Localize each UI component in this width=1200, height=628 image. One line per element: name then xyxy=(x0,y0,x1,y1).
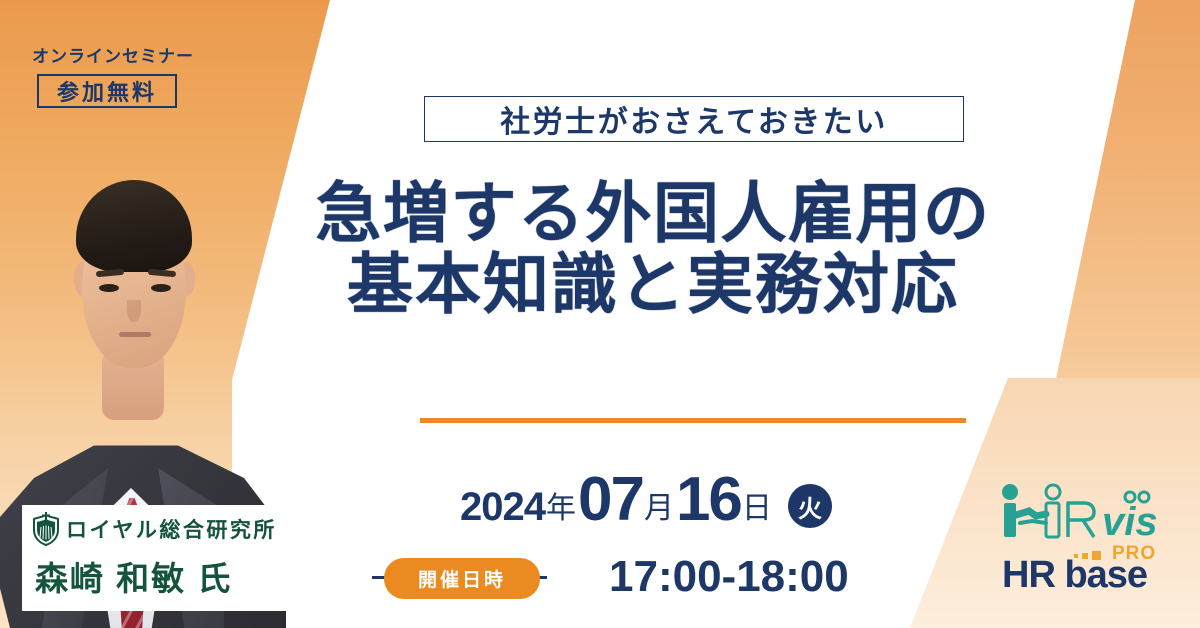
event-year: 2024 xyxy=(460,485,545,530)
schedule-label-pill: 開催日時 xyxy=(384,558,540,599)
hrvis-logo: vis xyxy=(996,483,1182,539)
event-time-row: 開催日時 17:00-18:00 xyxy=(372,550,932,604)
headline-block: 急増する外国人雇用の 基本知識と実務対応 xyxy=(268,178,1038,321)
event-date-row: 2024 年 07 月 16 日 火 xyxy=(460,468,940,530)
shield-crest-icon xyxy=(31,512,61,546)
event-month-unit: 月 xyxy=(644,483,674,527)
event-year-unit: 年 xyxy=(546,483,576,527)
event-day: 16 xyxy=(676,471,741,530)
online-seminar-label: オンラインセミナー xyxy=(32,42,194,67)
headline-line-2: 基本知識と実務対応 xyxy=(268,249,1038,320)
speaker-name-label: 森崎 和敏 氏 xyxy=(35,552,338,600)
speaker-name-plate: ロイヤル総合研究所 森崎 和敏 氏 xyxy=(22,505,338,611)
event-weekday-badge: 火 xyxy=(788,484,832,528)
headline-kicker-box: 社労士がおさえておきたい xyxy=(424,96,964,142)
event-day-unit: 日 xyxy=(742,483,772,527)
logo-group: vis HR base PRO xyxy=(996,483,1186,593)
hrbase-logo: HR base PRO xyxy=(996,543,1182,591)
svg-text:vis: vis xyxy=(1102,500,1158,539)
speaker-organization-row: ロイヤル総合研究所 xyxy=(31,512,338,546)
hrbase-pro-label: PRO xyxy=(1112,543,1156,565)
free-entry-label: 参加無料 xyxy=(57,75,157,107)
orange-divider xyxy=(420,418,966,423)
handshake-people-icon: vis xyxy=(996,483,1182,539)
event-month: 07 xyxy=(578,471,643,530)
headline-line-1: 急増する外国人雇用の xyxy=(268,178,1038,249)
hrbase-dots-icon xyxy=(1074,551,1101,560)
event-time: 17:00-18:00 xyxy=(609,552,849,602)
headline-kicker-label: 社労士がおさえておきたい xyxy=(500,97,888,141)
speaker-organization-label: ロイヤル総合研究所 xyxy=(66,514,277,544)
webinar-banner: オンラインセミナー 参加無料 社労士がおさえておきたい 急増する外国人雇用の 基… xyxy=(0,0,1200,628)
free-entry-badge: 参加無料 xyxy=(37,74,177,108)
